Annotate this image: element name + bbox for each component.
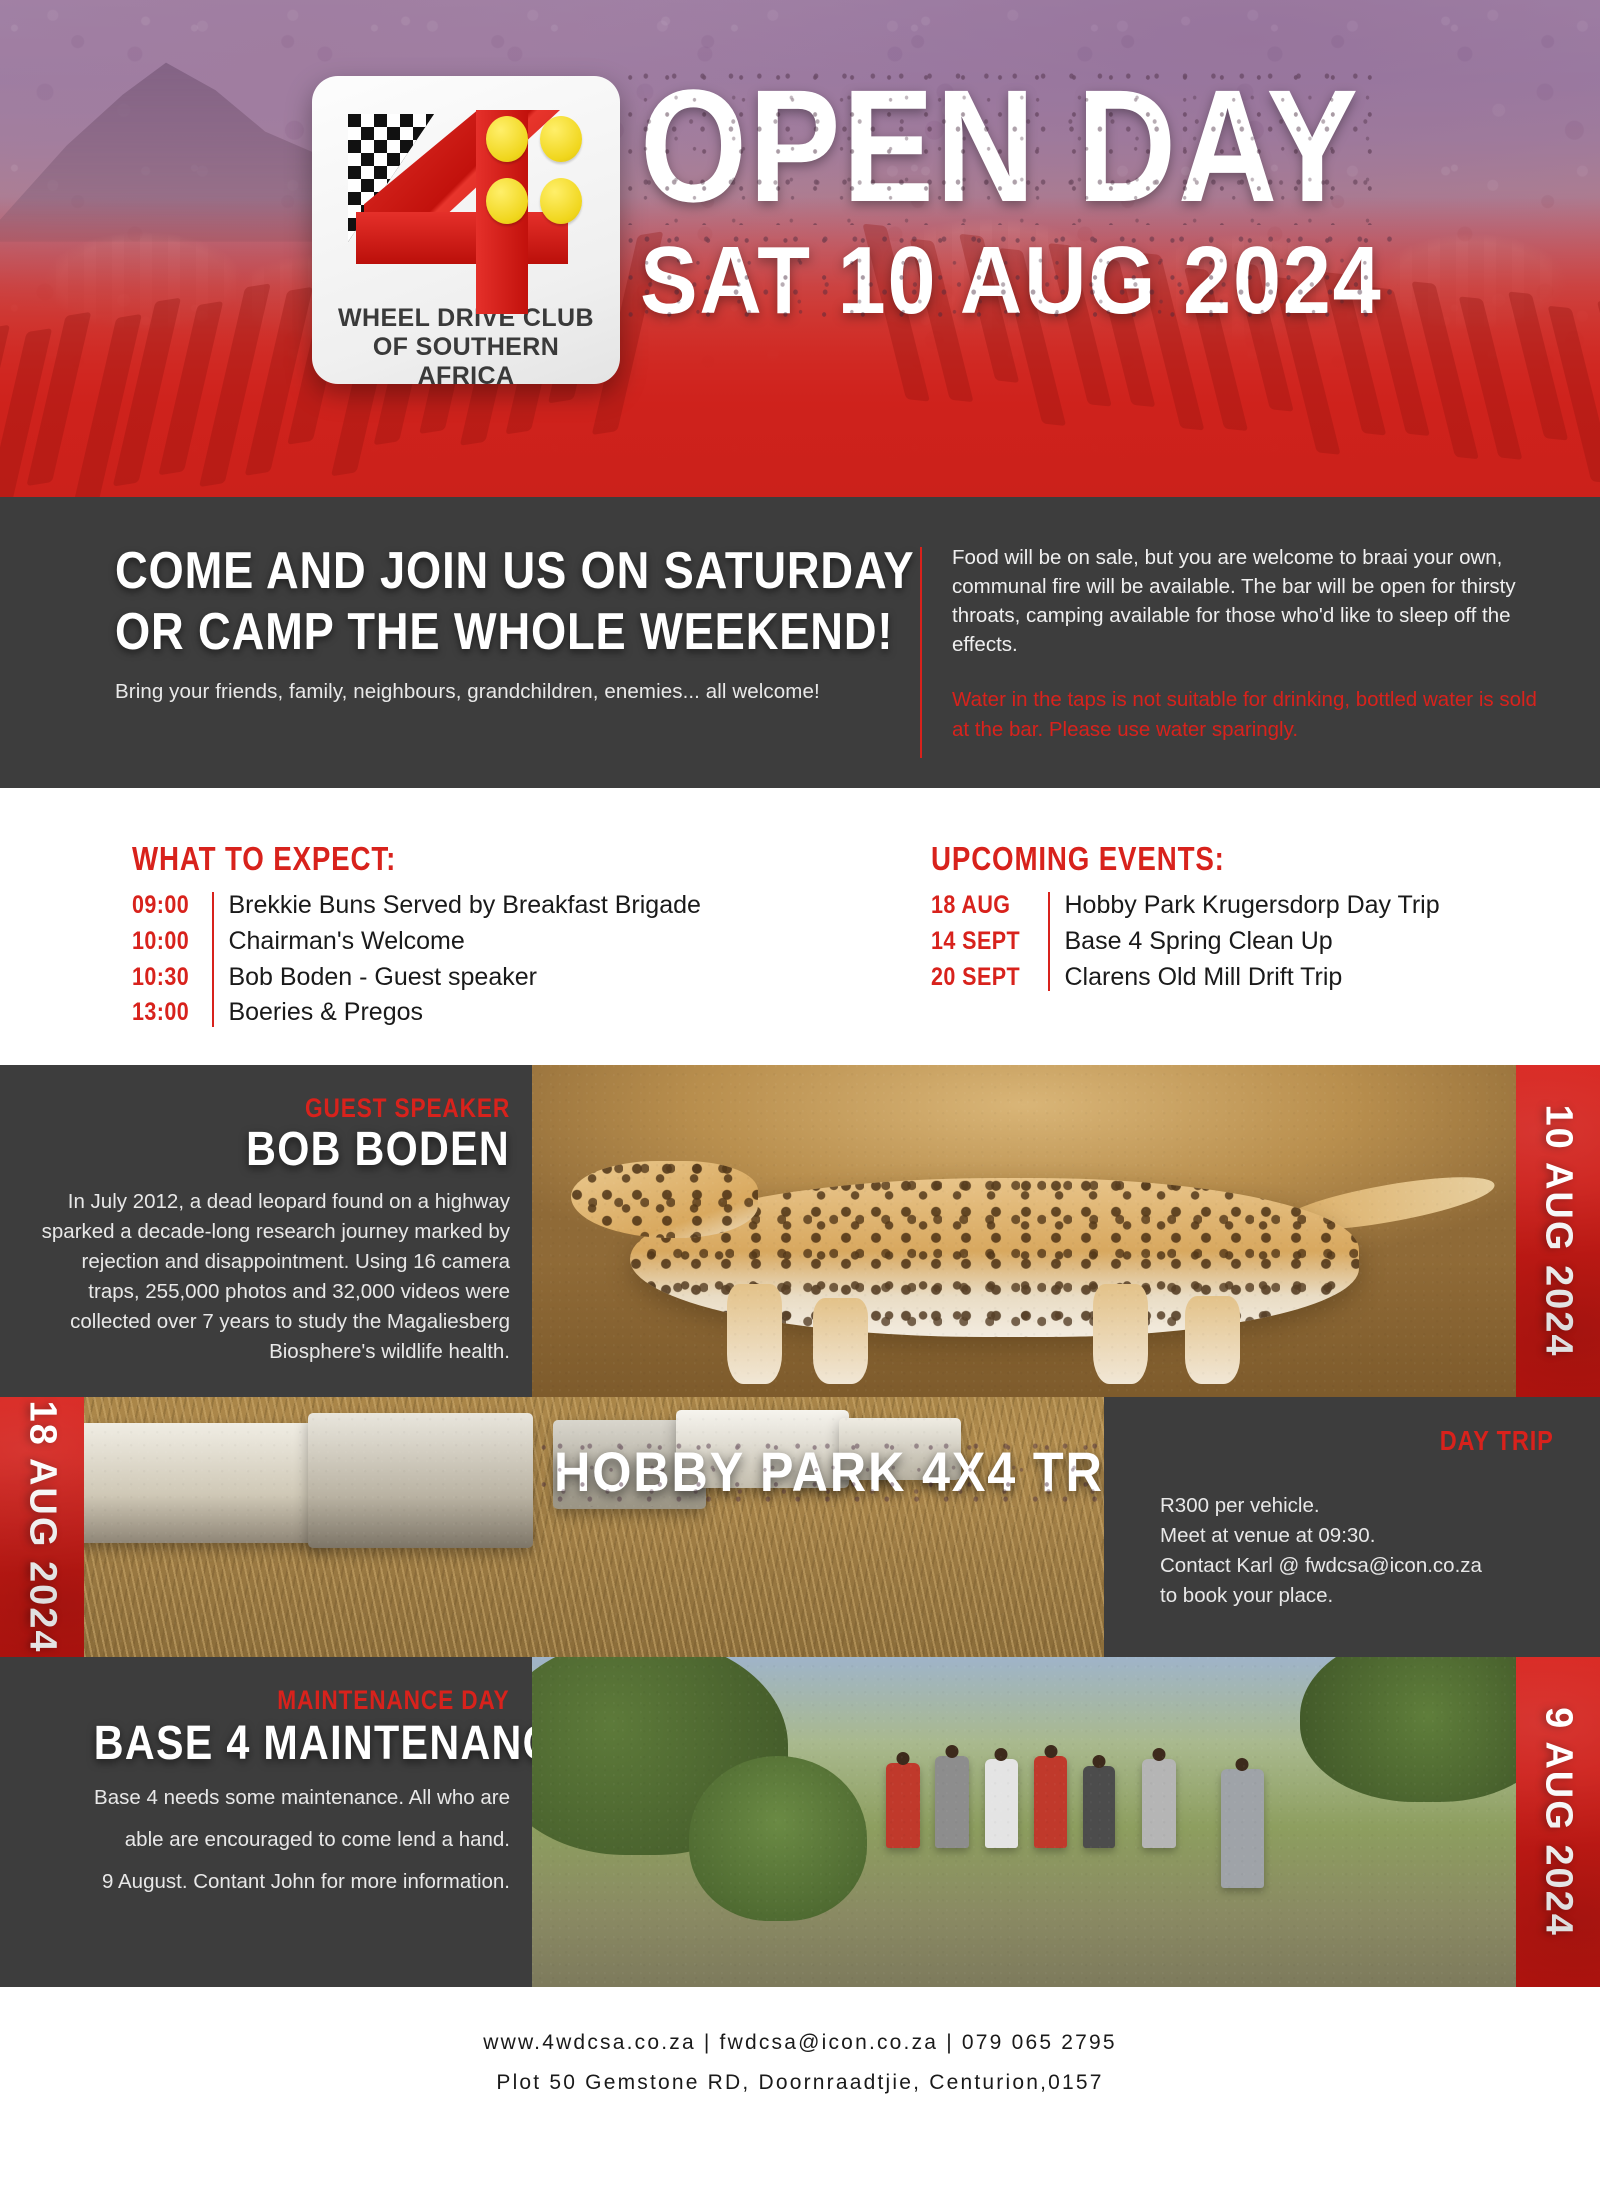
- guest-speaker-text: GUEST SPEAKER BOB BODEN In July 2012, a …: [0, 1065, 532, 1397]
- maintenance-kicker: MAINTENANCE DAY: [278, 1685, 510, 1716]
- hobby-park-text: DAY TRIP R300 per vehicle. Meet at venue…: [1104, 1397, 1600, 1657]
- upcoming-dates: 18 AUG 14 SEPT 20 SEPT: [931, 888, 1035, 995]
- upcoming-events-column: UPCOMING EVENTS: 18 AUG 14 SEPT 20 SEPT …: [761, 840, 1440, 1017]
- schedule-labels: Brekkie Buns Served by Breakfast Brigade…: [228, 888, 700, 1031]
- vertical-divider: [920, 547, 922, 758]
- schedule-time: 10:00: [132, 924, 189, 960]
- hobby-park-line: Contact Karl @ fwdcsa@icon.co.za: [1160, 1551, 1570, 1581]
- intro-headline-line2: OR CAMP THE WHOLE WEEKEND!: [115, 602, 815, 663]
- upcoming-date: 20 SEPT: [931, 960, 1020, 996]
- logo-club-name: WHEEL DRIVE CLUB OF SOUTHERN AFRICA: [332, 304, 600, 391]
- schedule-divider: [212, 892, 214, 1027]
- schedule-label: Brekkie Buns Served by Breakfast Brigade: [228, 888, 700, 924]
- upcoming-divider: [1048, 892, 1050, 991]
- upcoming-label: Hobby Park Krugersdorp Day Trip: [1064, 888, 1439, 924]
- upcoming-rows: 18 AUG 14 SEPT 20 SEPT Hobby Park Kruger…: [931, 888, 1440, 995]
- maintenance-text: MAINTENANCE DAY BASE 4 MAINTENANCE Base …: [0, 1657, 532, 1987]
- panel-hobby-park: 18 AUG 2024 HOBBY PARK 4X4 TRAIL TRIP DA…: [0, 1397, 1600, 1657]
- intro-headline-line1: COME AND JOIN US ON SATURDAY: [115, 541, 815, 602]
- hero-banner: WHEEL DRIVE CLUB OF SOUTHERN AFRICA OPEN…: [0, 0, 1600, 497]
- hobby-park-line: to book your place.: [1160, 1581, 1570, 1611]
- footer-address-line: Plot 50 Gemstone RD, Doornraadtjie, Cent…: [0, 2063, 1600, 2103]
- schedule-label: Boeries & Pregos: [228, 995, 700, 1031]
- maintenance-line: Base 4 needs some maintenance. All who a…: [26, 1783, 510, 1813]
- schedule-time: 13:00: [132, 995, 189, 1031]
- what-to-expect-heading: WHAT TO EXPECT:: [132, 840, 610, 878]
- intro-info-text: Food will be on sale, but you are welcom…: [952, 543, 1540, 659]
- maintenance-line: able are encouraged to come lend a hand.: [26, 1825, 510, 1855]
- hero-date: SAT 10 AUG 2024: [640, 233, 1383, 329]
- hobby-park-line: Meet at venue at 09:30.: [1160, 1521, 1570, 1551]
- guest-speaker-title: BOB BODEN: [106, 1122, 510, 1177]
- leopard-photo: [532, 1065, 1516, 1397]
- panel-date-tag-18aug: 18 AUG 2024: [0, 1397, 84, 1657]
- upcoming-events-heading: UPCOMING EVENTS:: [931, 840, 1358, 878]
- schedule-rows: 09:00 10:00 10:30 13:00 Brekkie Buns Ser…: [132, 888, 701, 1031]
- intro-headline-block: COME AND JOIN US ON SATURDAY OR CAMP THE…: [60, 541, 920, 788]
- maintenance-title: BASE 4 MAINTENANCE: [94, 1716, 510, 1771]
- what-to-expect-column: WHAT TO EXPECT: 09:00 10:00 10:30 13:00 …: [60, 840, 701, 1017]
- footer-contact-line: www.4wdcsa.co.za | fwdcsa@icon.co.za | 0…: [0, 2023, 1600, 2063]
- schedule-label: Chairman's Welcome: [228, 924, 700, 960]
- four-yellow-dots-icon: [486, 116, 582, 224]
- logo-mark: [332, 102, 600, 300]
- upcoming-date: 14 SEPT: [931, 924, 1020, 960]
- panel-date-label: 18 AUG 2024: [21, 1401, 64, 1654]
- panel-guest-speaker: GUEST SPEAKER BOB BODEN In July 2012, a …: [0, 1065, 1600, 1397]
- panel-date-label: 10 AUG 2024: [1537, 1105, 1580, 1358]
- schedule-time: 10:30: [132, 960, 189, 996]
- hero-title-block: OPEN DAY SAT 10 AUG 2024: [640, 72, 1600, 329]
- intro-subtitle: Bring your friends, family, neighbours, …: [115, 680, 920, 704]
- schedule-times: 09:00 10:00 10:30 13:00: [132, 888, 198, 1031]
- hobby-park-title: HOBBY PARK 4X4 TRAIL TRIP: [554, 1439, 1104, 1504]
- schedule-section: WHAT TO EXPECT: 09:00 10:00 10:30 13:00 …: [0, 788, 1600, 1065]
- schedule-time: 09:00: [132, 888, 189, 924]
- panel-date-label: 9 AUG 2024: [1537, 1707, 1580, 1937]
- footer: www.4wdcsa.co.za | fwdcsa@icon.co.za | 0…: [0, 1987, 1600, 2129]
- upcoming-label: Clarens Old Mill Drift Trip: [1064, 960, 1439, 996]
- upcoming-label: Base 4 Spring Clean Up: [1064, 924, 1439, 960]
- work-party-photo: [532, 1657, 1516, 1987]
- guest-speaker-body: In July 2012, a dead leopard found on a …: [40, 1187, 510, 1367]
- logo-line-2: OF SOUTHERN AFRICA: [332, 333, 600, 391]
- logo-line-1: WHEEL DRIVE CLUB: [332, 304, 600, 333]
- intro-info-block: Food will be on sale, but you are welcom…: [952, 541, 1540, 788]
- club-logo: WHEEL DRIVE CLUB OF SOUTHERN AFRICA: [312, 76, 620, 384]
- panel-date-tag-9aug: 9 AUG 2024: [1516, 1657, 1600, 1987]
- guest-speaker-kicker: GUEST SPEAKER: [305, 1093, 510, 1124]
- maintenance-line: 9 August. Contant John for more informat…: [26, 1867, 510, 1897]
- intro-band: COME AND JOIN US ON SATURDAY OR CAMP THE…: [0, 497, 1600, 788]
- panel-base4-maintenance: MAINTENANCE DAY BASE 4 MAINTENANCE Base …: [0, 1657, 1600, 1987]
- hero-title: OPEN DAY: [640, 72, 1360, 219]
- upcoming-date: 18 AUG: [931, 888, 1020, 924]
- hobby-park-line: R300 per vehicle.: [1160, 1491, 1570, 1521]
- event-poster: WHEEL DRIVE CLUB OF SOUTHERN AFRICA OPEN…: [0, 0, 1600, 2200]
- schedule-label: Bob Boden - Guest speaker: [228, 960, 700, 996]
- panel-date-tag-10aug: 10 AUG 2024: [1516, 1065, 1600, 1397]
- trail-vehicles-photo: HOBBY PARK 4X4 TRAIL TRIP: [84, 1397, 1104, 1657]
- water-warning-text: Water in the taps is not suitable for dr…: [952, 685, 1540, 743]
- upcoming-labels: Hobby Park Krugersdorp Day Trip Base 4 S…: [1064, 888, 1439, 995]
- hobby-park-kicker: DAY TRIP: [1440, 1425, 1554, 1457]
